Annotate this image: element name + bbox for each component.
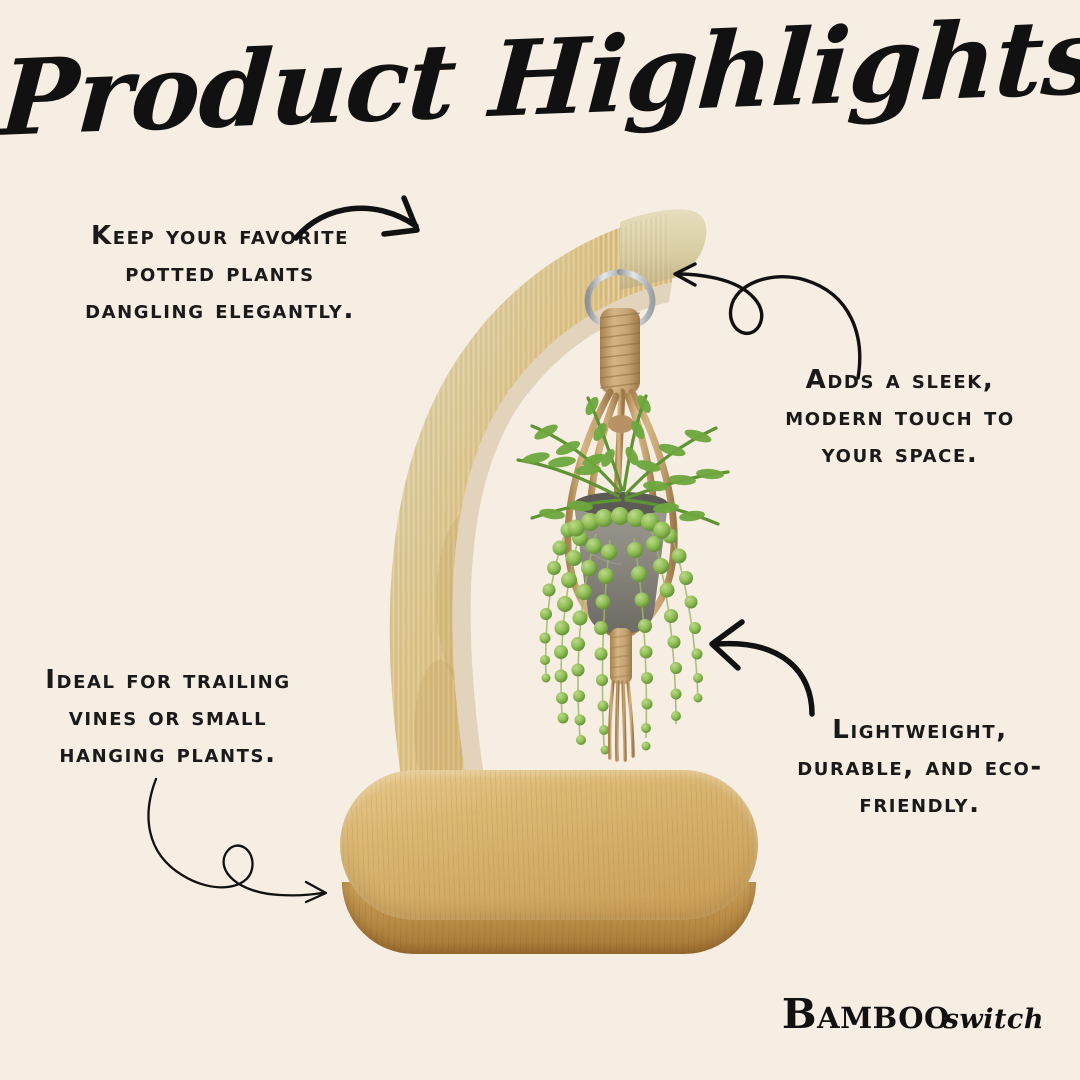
hanging-plant-assembly	[470, 246, 770, 826]
brand-name: Bamboo	[782, 990, 950, 1038]
annotation-keep-dangling: Keep your favorite potted plants danglin…	[70, 218, 370, 329]
brand-suffix: switch	[944, 1004, 1044, 1035]
product-image	[320, 170, 780, 960]
macrame-tassel	[610, 628, 633, 760]
bamboo-base	[340, 770, 758, 955]
poster-canvas: Product Highlights	[0, 0, 1080, 1080]
annotation-lightweight-eco: Lightweight, durable, and eco-friendly.	[790, 712, 1050, 823]
annotation-trailing-vines: Ideal for trailing vines or small hangin…	[18, 662, 318, 773]
macrame-top-knot	[600, 308, 640, 394]
page-title: Product Highlights	[0, 0, 1080, 159]
base-top-surface	[340, 770, 758, 920]
annotation-sleek-modern: Adds a sleek, modern touch to your space…	[760, 362, 1040, 473]
brand-logo: Bambooswitch	[782, 990, 1044, 1038]
